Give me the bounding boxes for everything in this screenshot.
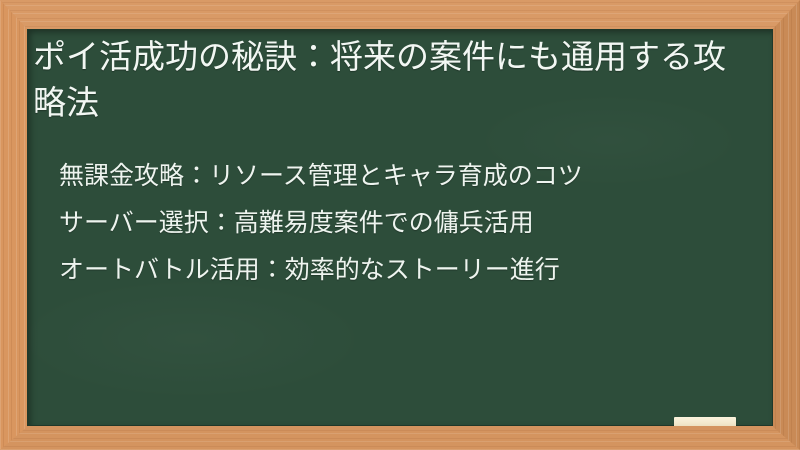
- slide-title: ポイ活成功の秘訣：将来の案件にも通用する攻略法: [33, 34, 745, 126]
- slide-point-list: 無課金攻略：リソース管理とキャラ育成のコツ サーバー選択：高難易度案件での傭兵活…: [59, 152, 759, 293]
- blackboard-slide: ポイ活成功の秘訣：将来の案件にも通用する攻略法 無課金攻略：リソース管理とキャラ…: [0, 0, 800, 450]
- list-item: サーバー選択：高難易度案件での傭兵活用: [59, 199, 759, 246]
- frame-top-edge: [0, 0, 800, 30]
- chalkboard-surface: ポイ活成功の秘訣：将来の案件にも通用する攻略法 無課金攻略：リソース管理とキャラ…: [27, 29, 773, 426]
- chalk-stick: [674, 417, 736, 426]
- list-item: 無課金攻略：リソース管理とキャラ育成のコツ: [59, 152, 759, 199]
- frame-right-edge: [772, 0, 800, 450]
- frame-bottom-ledge: [0, 426, 800, 450]
- frame-left-edge: [0, 0, 28, 450]
- list-item: オートバトル活用：効率的なストーリー進行: [59, 246, 759, 293]
